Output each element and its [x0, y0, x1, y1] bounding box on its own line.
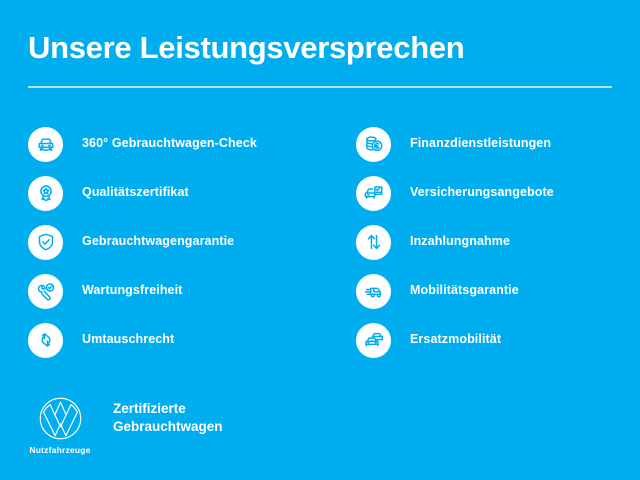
feature-label: Qualitätszertifikat — [82, 186, 189, 200]
feature-item: Wartungsfreiheit — [28, 273, 318, 309]
feature-item: Versicherungsangebote — [356, 175, 640, 211]
feature-item: Finanzdienstleistungen — [356, 126, 640, 162]
wrench-check-icon — [28, 274, 63, 309]
feature-label: 360° Gebrauchtwagen-Check — [82, 137, 257, 151]
brand-sublabel: Nutzfahrzeuge — [28, 445, 92, 455]
feature-label: Umtauschrecht — [82, 333, 174, 347]
car-document-icon — [356, 176, 391, 211]
feature-label: Finanzdienstleistungen — [410, 137, 551, 151]
exchange-arrows-icon — [28, 323, 63, 358]
coins-euro-icon — [356, 127, 391, 162]
footer-claim-line1: Zertifizierte — [113, 400, 223, 418]
feature-label: Mobilitätsgarantie — [410, 284, 519, 298]
arrows-up-down-icon — [356, 225, 391, 260]
header-divider — [28, 86, 612, 88]
feature-item: 360° Gebrauchtwagen-Check — [28, 126, 318, 162]
feature-label: Inzahlungnahme — [410, 235, 510, 249]
feature-label: Versicherungsangebote — [410, 186, 554, 200]
feature-column-right: Finanzdienstleistungen Versicherungsange… — [356, 126, 640, 358]
page-title: Unsere Leistungsversprechen — [28, 31, 464, 65]
feature-column-left: 360° Gebrauchtwagen-Check Qualitätszerti… — [28, 126, 318, 358]
brand-lockup: Nutzfahrzeuge — [28, 394, 92, 455]
slide-root: Unsere Leistungsversprechen 360° Gebrauc… — [0, 0, 640, 480]
feature-item: Ersatzmobilität — [356, 322, 640, 358]
feature-label: Wartungsfreiheit — [82, 284, 182, 298]
feature-item: Mobilitätsgarantie — [356, 273, 640, 309]
footer-claim: Zertifizierte Gebrauchtwagen — [113, 400, 223, 436]
feature-item: Gebrauchtwagengarantie — [28, 224, 318, 260]
feature-label: Gebrauchtwagengarantie — [82, 235, 234, 249]
feature-item: Umtauschrecht — [28, 322, 318, 358]
feature-label: Ersatzmobilität — [410, 333, 501, 347]
feature-item: Qualitätszertifikat — [28, 175, 318, 211]
footer-claim-line2: Gebrauchtwagen — [113, 418, 223, 436]
volkswagen-logo — [38, 396, 83, 441]
feature-item: Inzahlungnahme — [356, 224, 640, 260]
van-motion-icon — [356, 274, 391, 309]
car-360-check-icon — [28, 127, 63, 162]
footer: Nutzfahrzeuge Zertifizierte Gebrauchtwag… — [28, 394, 223, 455]
quality-medal-icon — [28, 176, 63, 211]
two-cars-icon — [356, 323, 391, 358]
shield-check-icon — [28, 225, 63, 260]
